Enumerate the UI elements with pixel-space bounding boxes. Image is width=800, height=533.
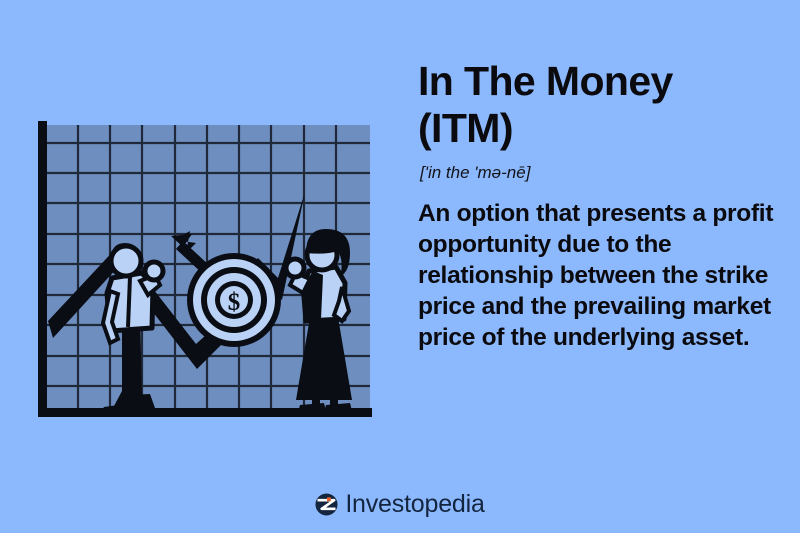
brand-name: Investopedia xyxy=(345,492,484,517)
brand-footer: Investopedia xyxy=(0,492,800,517)
definition-text: An option that presents a profit opportu… xyxy=(418,198,778,353)
stock-chart-illustration: $ xyxy=(0,95,400,435)
definition-graphic-page: $ xyxy=(0,0,800,533)
investopedia-logo-icon xyxy=(315,493,338,516)
svg-text:$: $ xyxy=(228,289,241,316)
dollar-target: $ xyxy=(187,253,281,347)
pronunciation-text: ['in the 'mə-nē] xyxy=(420,162,788,184)
definition-text-panel: In The Money (ITM) ['in the 'mə-nē] An o… xyxy=(418,58,788,353)
page-title: In The Money (ITM) xyxy=(418,58,788,152)
